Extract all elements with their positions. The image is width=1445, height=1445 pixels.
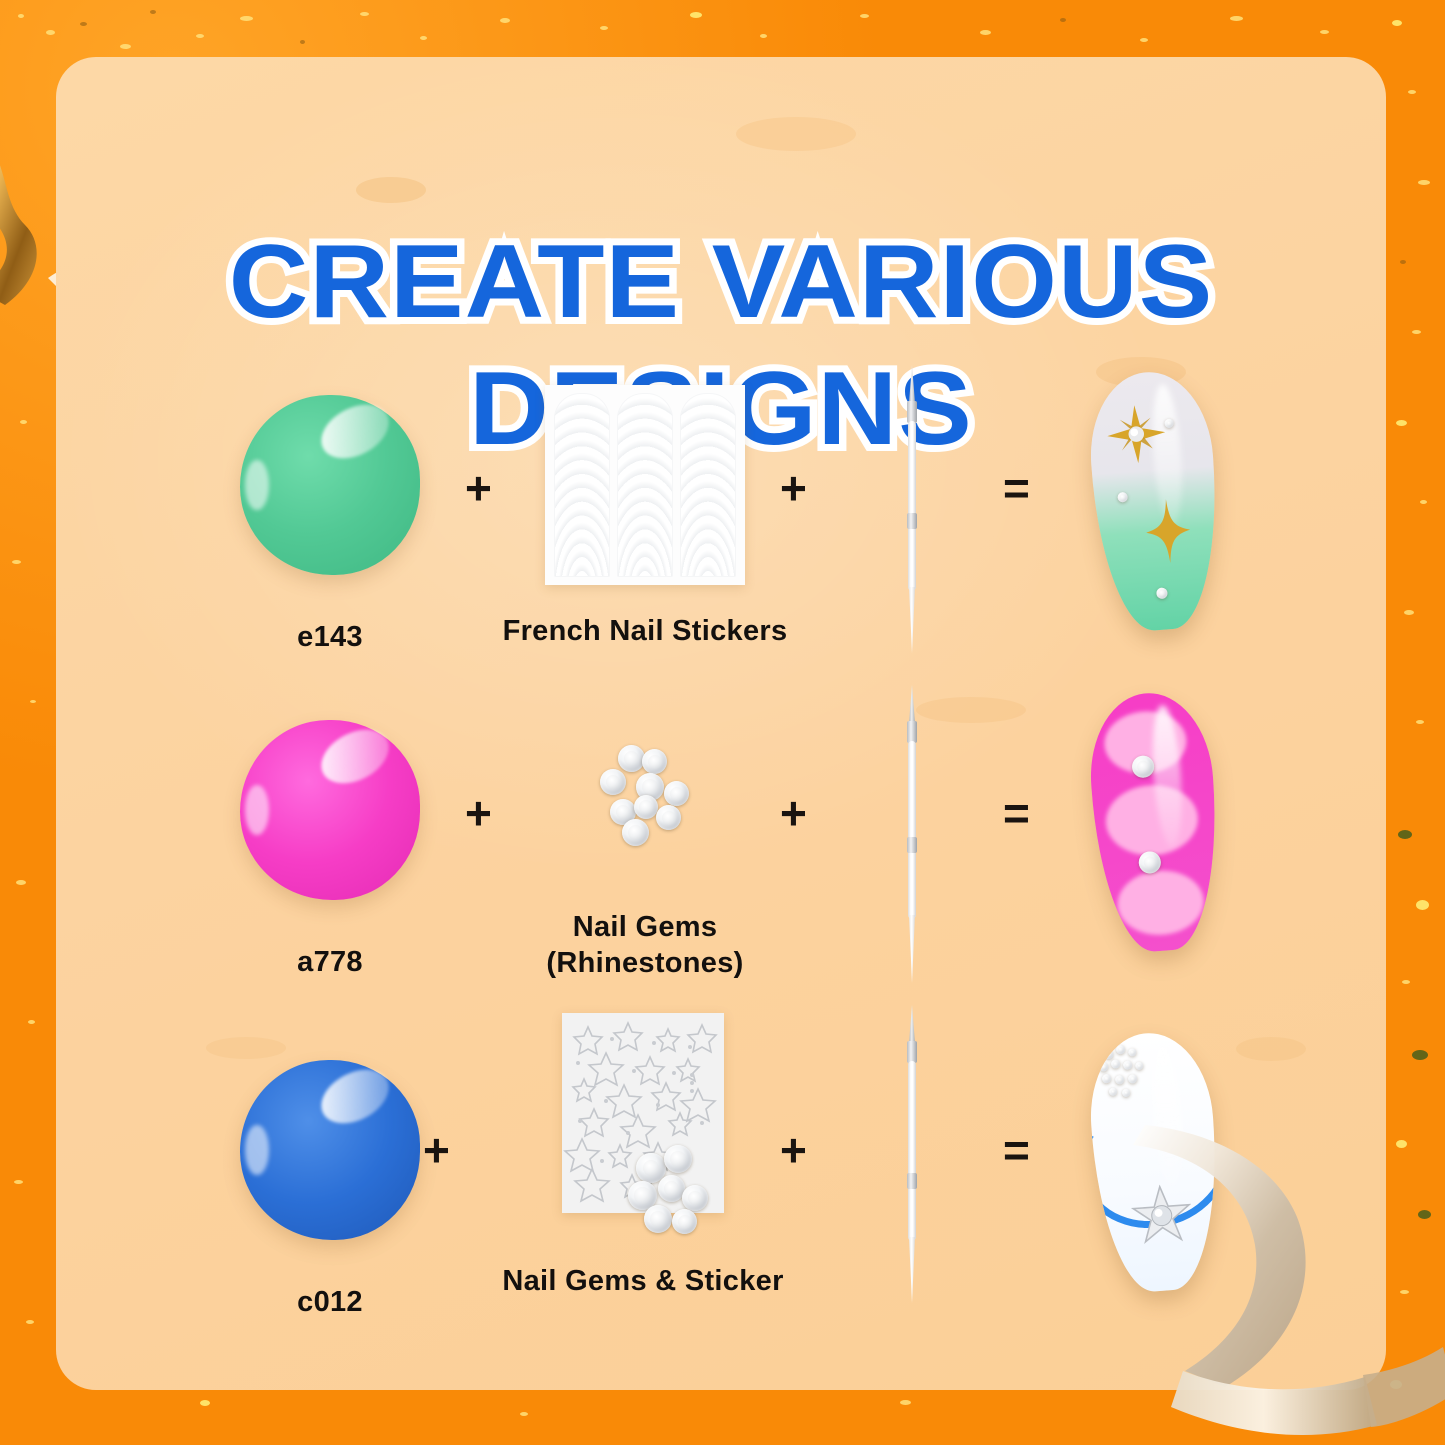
nail-design-blue-swirl-star-gems-icon <box>1085 1029 1225 1295</box>
addon-cell-3[interactable]: Nail Gems & Sticker <box>548 1013 738 1299</box>
design-row-1: e143 + French Nail Stickers + = <box>0 360 1445 660</box>
french-nail-sticker-sheet-icon <box>545 385 745 585</box>
gold-starburst-icon <box>1105 403 1167 465</box>
result-cell-2[interactable] <box>1065 693 1245 951</box>
nail-liner-brush-icon-1 <box>903 365 921 655</box>
polish-cell-2[interactable]: a778 <box>235 720 425 980</box>
polish-code-label-2: a778 <box>235 944 425 980</box>
plus-sign-1a: + <box>465 465 492 511</box>
polish-drop-green-icon <box>240 395 420 575</box>
plus-sign-3b: + <box>780 1127 807 1173</box>
nail-liner-brush-icon-3 <box>903 1005 921 1305</box>
addon-cell-1[interactable]: French Nail Stickers <box>543 385 747 649</box>
gold-sparkle-icon <box>1144 498 1192 565</box>
polish-code-label-1: e143 <box>235 619 425 655</box>
polish-drop-pink-icon <box>240 720 420 900</box>
equals-sign-1: = <box>1003 465 1030 511</box>
nail-design-green-gradient-gold-stars-icon <box>1085 368 1225 634</box>
result-cell-1[interactable] <box>1065 372 1245 630</box>
plus-sign-1b: + <box>780 465 807 511</box>
polish-cell-3[interactable]: c012 <box>235 1060 425 1320</box>
design-row-2: a778 + Nail Gems (Rhinestones) + <box>0 685 1445 985</box>
equals-sign-2: = <box>1003 790 1030 836</box>
plus-sign-2b: + <box>780 790 807 836</box>
title-line-1: CREATE VARIOUS <box>229 224 1214 340</box>
silver-star-charm-icon <box>1130 1183 1194 1247</box>
addon-label-2: Nail Gems (Rhinestones) <box>495 909 795 982</box>
polish-drop-blue-icon <box>240 1060 420 1240</box>
result-cell-3[interactable] <box>1065 1033 1245 1291</box>
polish-code-label-3: c012 <box>235 1284 425 1320</box>
addon-label-1: French Nail Stickers <box>485 613 805 649</box>
promo-banner: CREATE VARIOUS DESIGNS e143 + French Nai… <box>0 0 1445 1445</box>
design-row-3: c012 + <box>0 1005 1445 1305</box>
nail-liner-brush-icon-2 <box>903 685 921 985</box>
polish-cell-1[interactable]: e143 <box>235 395 425 655</box>
nail-design-pink-with-rhinestones-icon <box>1085 689 1225 955</box>
addon-label-3: Nail Gems & Sticker <box>473 1263 813 1299</box>
plus-sign-2a: + <box>465 790 492 836</box>
equals-sign-3: = <box>1003 1127 1030 1173</box>
addon-cell-2[interactable]: Nail Gems (Rhinestones) <box>545 743 745 982</box>
rhinestone-gem-cluster-icon <box>580 743 710 853</box>
plus-sign-3a: + <box>423 1127 450 1173</box>
